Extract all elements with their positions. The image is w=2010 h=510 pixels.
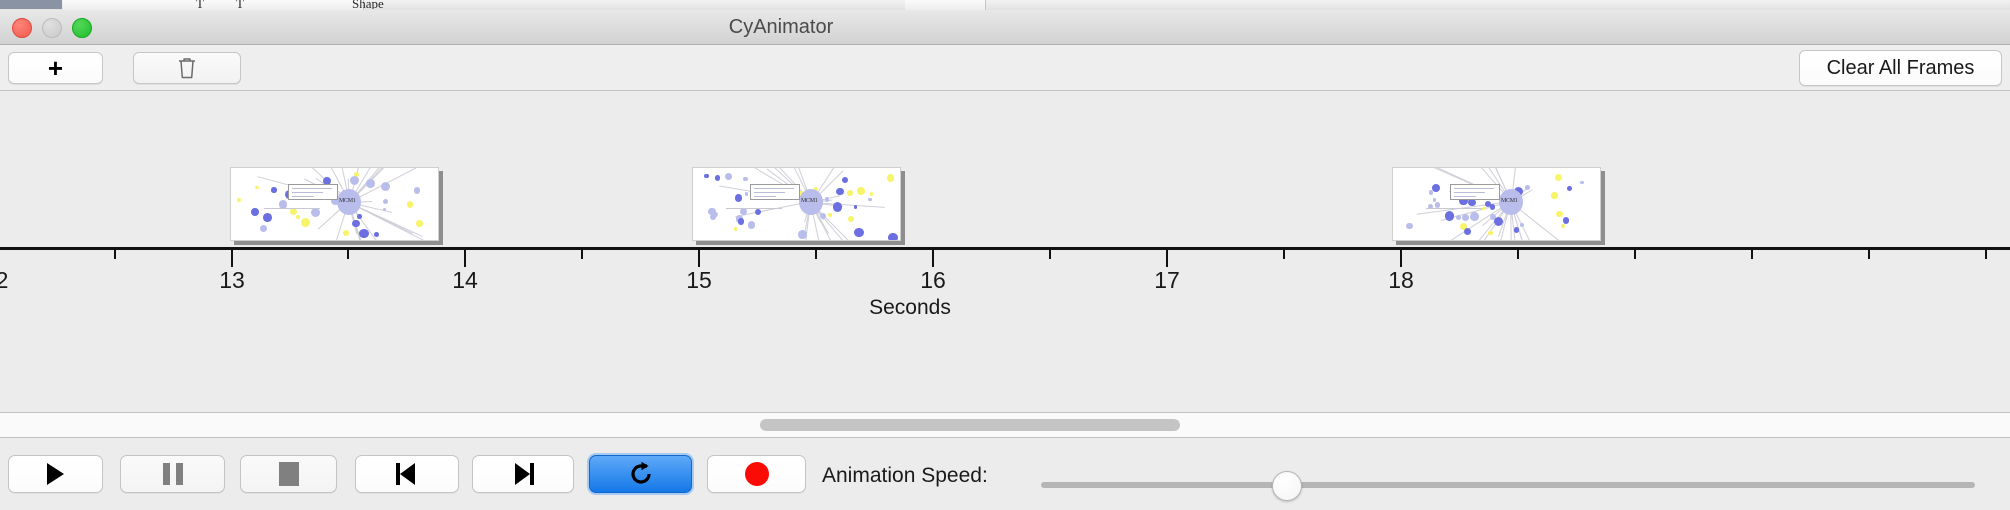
network-node (842, 177, 848, 183)
timeline-hscrollbar[interactable] (0, 413, 2010, 438)
network-node (357, 214, 362, 219)
delete-frame-button[interactable] (133, 52, 241, 84)
network-node (1445, 211, 1455, 221)
network-node (1514, 227, 1519, 232)
network-node (1433, 198, 1436, 201)
network-node (715, 175, 721, 181)
network-node (1580, 181, 1583, 184)
timeline-panel[interactable]: MCM1MCM1MCM1 2131415161718 Seconds (0, 91, 2010, 413)
network-node (1462, 214, 1469, 221)
network-node (359, 229, 368, 238)
stop-icon (279, 462, 299, 486)
network-node (734, 227, 737, 230)
network-node (828, 213, 831, 216)
network-node (1464, 228, 1471, 235)
network-node (833, 202, 843, 212)
record-icon (745, 462, 769, 486)
network-node (416, 220, 423, 227)
network-node (255, 186, 258, 189)
network-node (888, 233, 897, 241)
network-node (1494, 217, 1503, 226)
network-node (1482, 207, 1486, 211)
network-node (836, 188, 843, 195)
skip-back-icon (395, 463, 419, 485)
pause-icon (163, 463, 183, 485)
network-node (374, 232, 379, 237)
timeline-tick-label: 13 (219, 267, 245, 294)
timeline-minor-tick (815, 250, 817, 259)
network-node (1567, 186, 1572, 191)
network-node (854, 228, 863, 237)
network-node (301, 218, 310, 227)
network-node (1435, 202, 1440, 207)
frame-thumbnail-3[interactable]: MCM1 (1392, 167, 1605, 245)
network-node (1456, 215, 1461, 220)
timeline-axis-title: Seconds (0, 296, 2010, 320)
clear-all-frames-button[interactable]: Clear All Frames (1799, 50, 2002, 86)
frame-network-preview: MCM1 (230, 167, 439, 241)
network-node (748, 221, 755, 228)
network-annotation-line (754, 196, 776, 197)
network-node (887, 174, 894, 181)
cyanimator-window: Shape T T CyAnimator + Clear All Frames (0, 0, 2010, 510)
timeline-minor-tick (1283, 250, 1285, 259)
frame-network-preview: MCM1 (692, 167, 901, 241)
network-node (407, 201, 413, 207)
network-annotation-line (292, 192, 323, 193)
timeline-tick-label: 15 (686, 267, 712, 294)
network-annotation-box (1450, 184, 1500, 200)
network-node (798, 230, 807, 239)
timeline-tick-label: 18 (1388, 267, 1414, 294)
network-node (1470, 212, 1479, 221)
network-annotation-box (750, 184, 800, 200)
timeline-major-tick (231, 250, 233, 267)
background-tab (148, 0, 191, 10)
network-node (1551, 192, 1557, 198)
network-node (825, 197, 830, 202)
network-node (251, 208, 259, 216)
network-annotation-line (754, 188, 794, 189)
network-node (260, 225, 267, 232)
timeline-minor-tick (347, 250, 349, 259)
background-label-t1: T (196, 0, 204, 9)
network-node (755, 209, 761, 215)
timeline-minor-tick (114, 250, 116, 259)
loop-button[interactable] (589, 455, 692, 493)
network-node (237, 198, 241, 202)
timeline-minor-tick (1868, 250, 1870, 259)
playback-toolbar: Animation Speed: (0, 438, 2010, 510)
network-hub-label: MCM1 (801, 198, 817, 204)
network-node (381, 182, 390, 191)
background-tab (945, 0, 986, 10)
network-node (1563, 217, 1569, 223)
network-node (1485, 201, 1491, 207)
timeline-tick-label: 17 (1154, 267, 1180, 294)
play-icon (47, 463, 64, 485)
network-node (343, 230, 349, 236)
window-title: CyAnimator (0, 10, 2010, 44)
network-node (1406, 223, 1412, 229)
timeline-minor-tick (1049, 250, 1051, 259)
network-node (263, 213, 272, 222)
background-tab (255, 0, 306, 10)
add-frame-button[interactable]: + (8, 52, 103, 84)
network-node (854, 205, 857, 208)
network-node (296, 215, 300, 219)
network-hub-label: MCM1 (1501, 198, 1517, 204)
network-node (847, 190, 853, 196)
network-node (271, 187, 276, 192)
network-node (1561, 224, 1565, 228)
frame-thumbnail-1[interactable]: MCM1 (230, 167, 443, 245)
trash-icon (176, 56, 198, 80)
timeline-major-tick (698, 250, 700, 267)
network-node (350, 176, 359, 185)
network-caption (726, 208, 782, 209)
animation-speed-label: Animation Speed: (822, 464, 988, 488)
skip-to-start-button[interactable] (355, 455, 459, 493)
timeline-minor-tick (581, 250, 583, 259)
network-node (710, 214, 716, 220)
network-node (383, 199, 389, 205)
background-tab (905, 0, 946, 10)
timeline-axis-line (0, 247, 2010, 250)
network-annotation-line (292, 196, 314, 197)
network-node (725, 173, 732, 180)
network-node (743, 177, 747, 181)
network-node (1525, 185, 1530, 190)
network-node (366, 179, 375, 188)
skip-forward-icon (511, 463, 535, 485)
network-node (352, 220, 359, 227)
network-caption (1426, 208, 1482, 209)
network-node (383, 208, 386, 211)
network-caption (264, 208, 320, 209)
timeline-tick-label: 16 (920, 267, 946, 294)
animation-speed-slider-track[interactable] (1041, 482, 1975, 488)
network-node (735, 194, 743, 202)
frame-toolbar: + Clear All Frames (0, 45, 2010, 91)
background-selected-tab (0, 0, 62, 9)
plus-icon: + (48, 55, 63, 81)
network-node (857, 187, 865, 195)
network-hub-label: MCM1 (339, 198, 355, 204)
network-annotation-line (292, 188, 332, 189)
network-annotation-line (754, 192, 785, 193)
network-node (868, 198, 871, 201)
background-label-t2: T (236, 0, 244, 9)
timeline-tick-label: 14 (452, 267, 478, 294)
timeline-major-tick (932, 250, 934, 267)
network-node (704, 174, 708, 178)
hscrollbar-thumb[interactable] (760, 419, 1180, 431)
timeline-tick-label: 2 (0, 267, 8, 294)
network-node (1488, 231, 1493, 236)
background-label-shape: Shape (352, 0, 384, 9)
frame-network-preview: MCM1 (1392, 167, 1601, 241)
timeline-minor-tick (1634, 250, 1636, 259)
timeline-major-tick (1166, 250, 1168, 267)
window-title-text: CyAnimator (729, 16, 833, 38)
network-node (1556, 211, 1562, 217)
network-node (738, 218, 744, 224)
stop-button[interactable] (240, 455, 337, 493)
network-annotation-line (1454, 188, 1494, 189)
play-button[interactable] (8, 455, 103, 493)
network-node (414, 187, 420, 193)
frame-thumbnail-2[interactable]: MCM1 (692, 167, 905, 245)
timeline-major-tick (1400, 250, 1402, 267)
timeline-minor-tick (1517, 250, 1519, 259)
clear-all-frames-label: Clear All Frames (1827, 57, 1975, 80)
background-tab (63, 0, 149, 10)
network-annotation-line (1454, 196, 1476, 197)
timeline-major-tick (464, 250, 466, 267)
network-node (1432, 184, 1440, 192)
network-node (848, 216, 854, 222)
timeline-minor-tick (1751, 250, 1753, 259)
skip-to-end-button[interactable] (472, 455, 574, 493)
network-annotation-box (288, 184, 338, 200)
network-annotation-line (1454, 192, 1485, 193)
network-node (745, 192, 748, 195)
window-titlebar: CyAnimator (0, 10, 2010, 45)
network-node (1555, 174, 1562, 181)
animation-speed-slider-knob[interactable] (1272, 471, 1302, 501)
network-node (870, 192, 874, 196)
axis-title-text: Seconds (869, 296, 951, 319)
network-node (311, 208, 320, 217)
record-button[interactable] (707, 455, 806, 493)
loop-icon (628, 461, 654, 487)
pause-button[interactable] (120, 455, 225, 493)
timeline-minor-tick (1985, 250, 1987, 259)
